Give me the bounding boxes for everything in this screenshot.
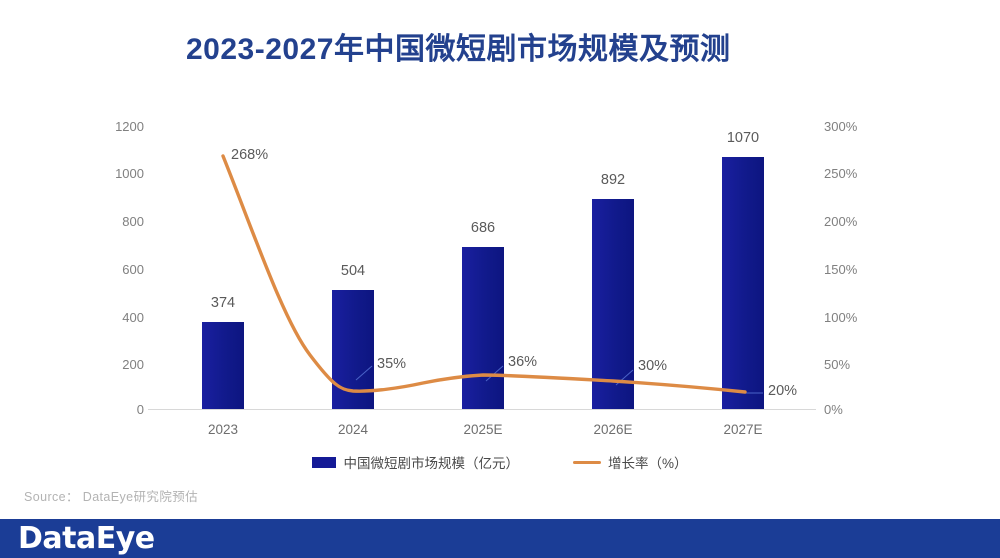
chart-page: 2023-2027年中国微短剧市场规模及预测 1200 1000 800 600…	[0, 0, 1000, 558]
legend-item-growth-rate[interactable]: 增长率（%）	[573, 452, 688, 472]
pct-label-2026E: 30%	[638, 358, 667, 374]
leader-line-2024	[356, 366, 372, 380]
chart-legend: 中国微短剧市场规模（亿元） 增长率（%）	[0, 452, 1000, 472]
pct-label-2024: 35%	[377, 356, 406, 372]
pct-label-2025E: 36%	[508, 354, 537, 370]
pct-label-2023: 268%	[231, 147, 268, 163]
legend-line-swatch-icon	[573, 461, 601, 464]
growth-rate-line-chart	[0, 0, 1000, 558]
pct-label-2027E: 20%	[768, 383, 797, 399]
x-axis-tick-2027E: 2027E	[698, 422, 788, 437]
brand-logo: DataEye	[18, 521, 155, 556]
growth-rate-line[interactable]	[223, 156, 745, 392]
legend-item-market-size[interactable]: 中国微短剧市场规模（亿元）	[312, 452, 519, 472]
x-axis-tick-2025E: 2025E	[438, 422, 528, 437]
legend-label-growth-rate: 增长率（%）	[608, 452, 688, 472]
x-axis-tick-2026E: 2026E	[568, 422, 658, 437]
x-axis-tick-2023: 2023	[178, 422, 268, 437]
legend-bar-swatch-icon	[312, 457, 336, 468]
legend-label-market-size: 中国微短剧市场规模（亿元）	[343, 452, 519, 472]
x-axis-tick-2024: 2024	[308, 422, 398, 437]
source-note: Source： DataEye研究院预估	[24, 486, 198, 505]
chart-plot-area: 1200 1000 800 600 400 200 0 300% 250% 20…	[0, 0, 1000, 558]
